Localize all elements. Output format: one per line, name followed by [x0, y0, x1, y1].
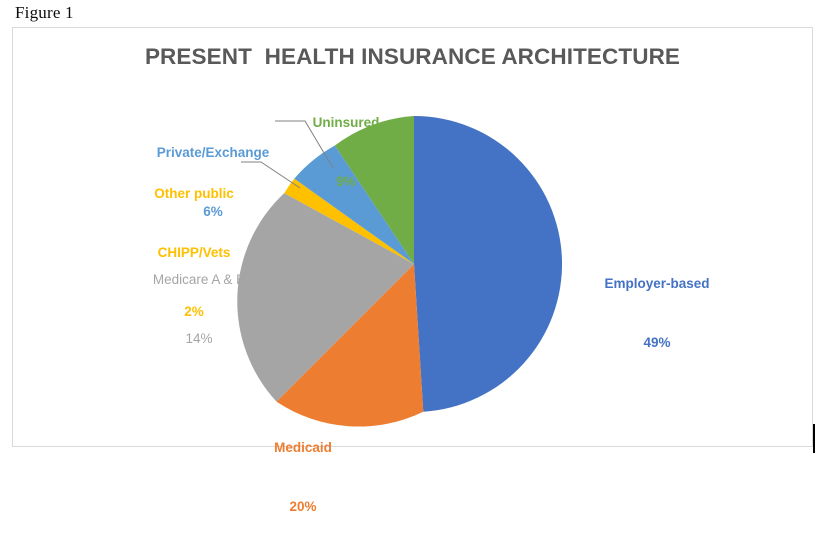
- text-cursor-caret: [813, 424, 815, 453]
- pie-label-medicaid-name: Medicaid: [233, 438, 373, 458]
- pie-label-medicaid-pct: 20%: [233, 497, 373, 517]
- chart-frame[interactable]: PRESENT HEALTH INSURANCE ARCHITECTURE: [12, 27, 813, 447]
- pie-label-medicare-pct: 14%: [123, 329, 275, 349]
- pie-label-other-public-name-line1: Other public: [133, 184, 255, 204]
- pie-chart-area[interactable]: Uninsured 9% Private/Exchange 6% Other p…: [13, 28, 814, 446]
- pie-label-employer-based-pct: 49%: [569, 333, 745, 353]
- pie-label-employer-based-name: Employer-based: [569, 274, 745, 294]
- pie-label-medicare-name: Medicare A & B: [123, 270, 275, 290]
- pie-label-employer-based: Employer-based 49%: [569, 235, 745, 392]
- pie-slice-employer-based[interactable]: [414, 116, 562, 412]
- document-page: Figure 1 PRESENT HEALTH INSURANCE ARCHIT…: [0, 0, 826, 470]
- pie-label-medicare: Medicare A & B 14%: [123, 231, 275, 388]
- figure-caption: Figure 1: [15, 3, 74, 23]
- pie-label-medicaid: Medicaid 20%: [233, 399, 373, 556]
